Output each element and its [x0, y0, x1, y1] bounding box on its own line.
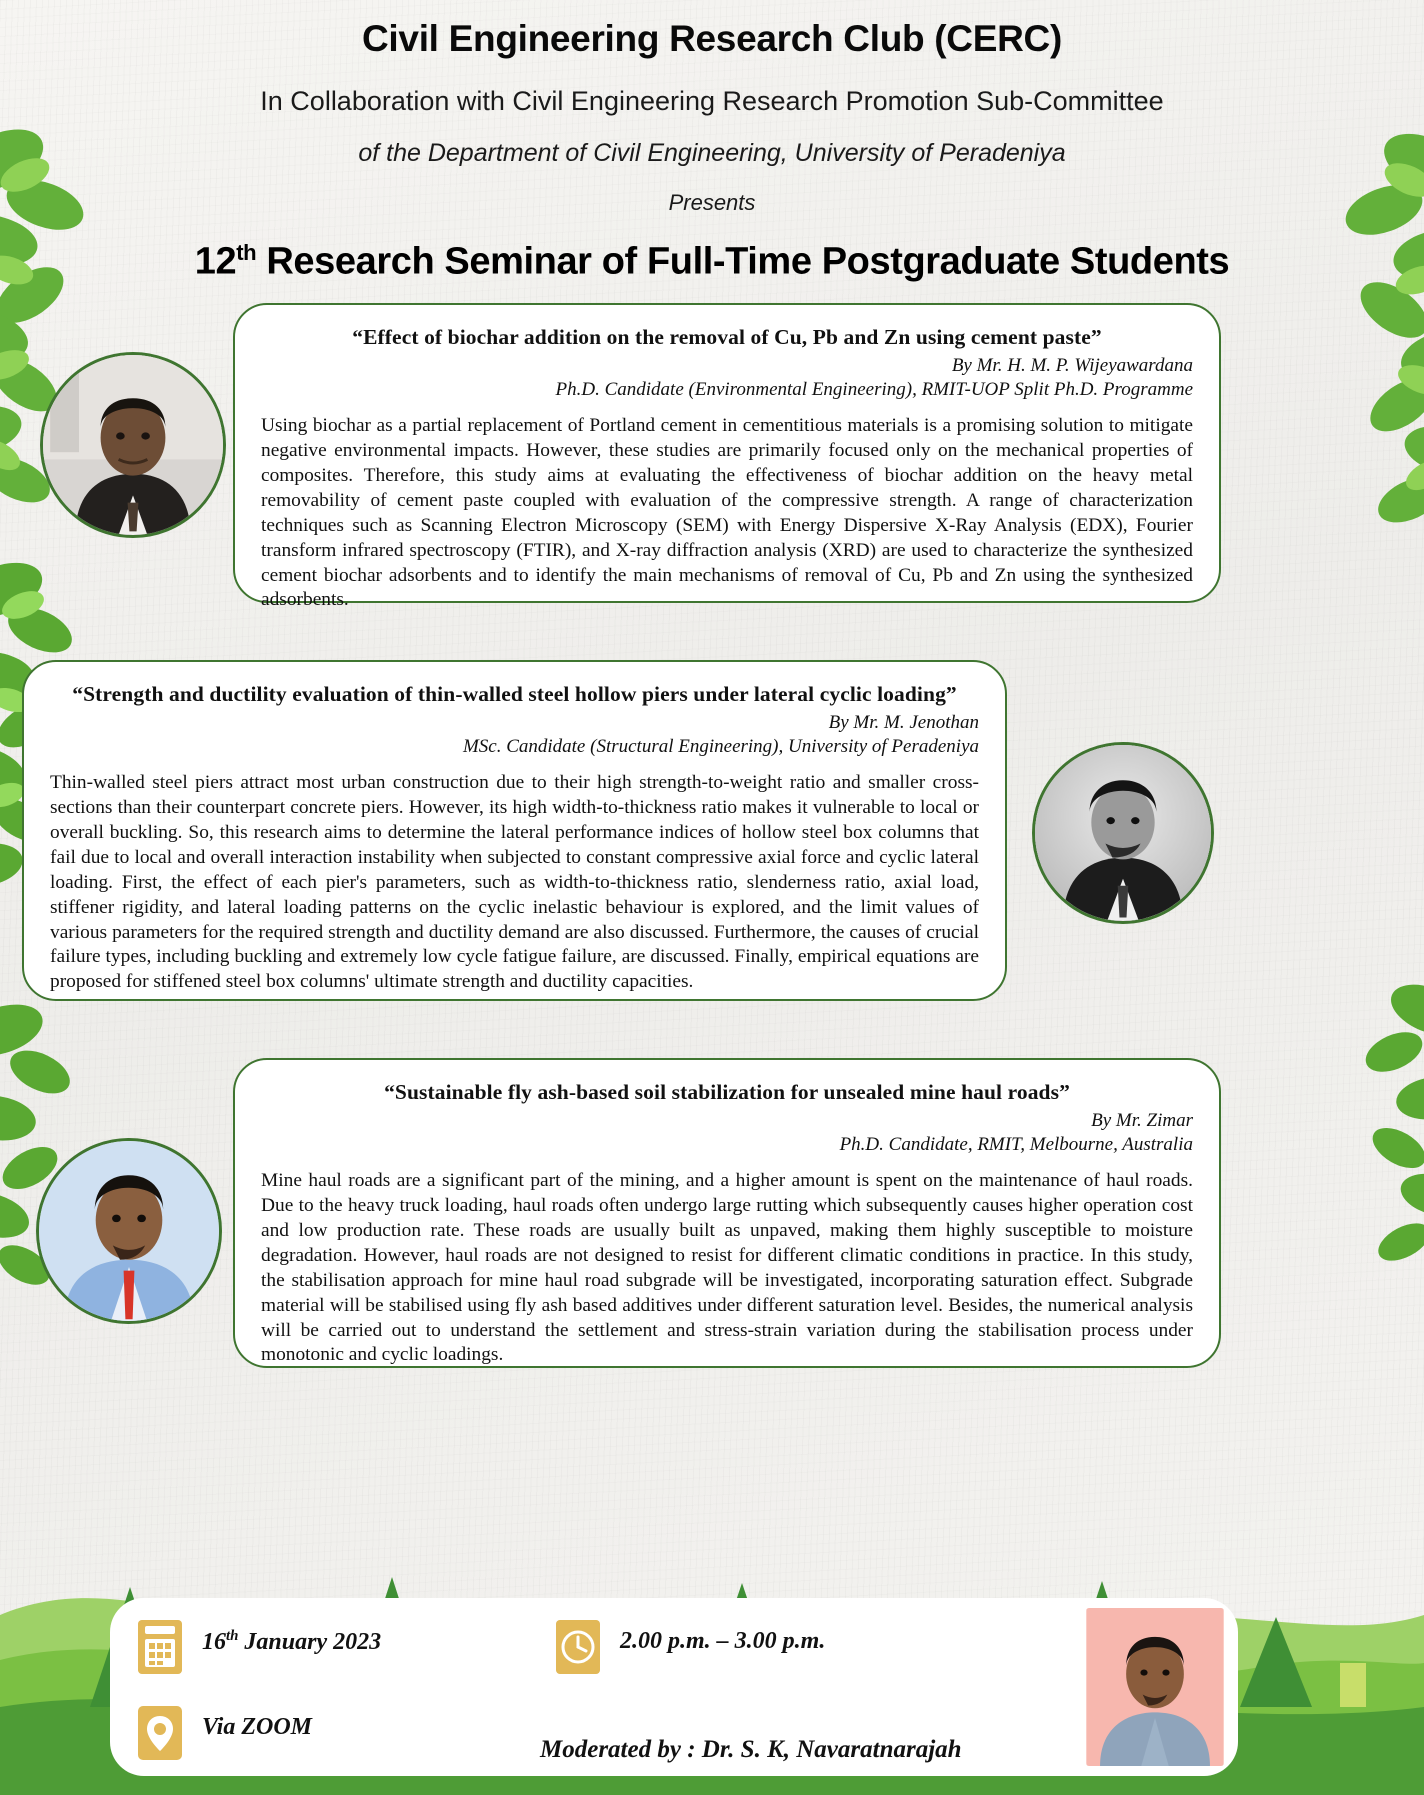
- event-venue: Via ZOOM: [202, 1714, 312, 1741]
- avatar: [43, 355, 223, 535]
- department-line: of the Department of Civil Engineering, …: [0, 139, 1424, 168]
- event-date-day: 16: [202, 1629, 226, 1655]
- talk-abstract: Using biochar as a partial replacement o…: [261, 414, 1193, 613]
- talk-presenter: By Mr. M. Jenothan: [50, 712, 979, 734]
- talk-abstract: Mine haul roads are a significant part o…: [261, 1169, 1193, 1368]
- poster-header: Civil Engineering Research Club (CERC) I…: [0, 0, 1424, 284]
- presenter-photo-3: [36, 1138, 222, 1324]
- talk-title: “Strength and ductility evaluation of th…: [50, 682, 979, 707]
- avatar: [1086, 1608, 1224, 1766]
- presents-label: Presents: [0, 190, 1424, 216]
- event-moderator: Moderated by : Dr. S. K, Navaratnarajah: [540, 1736, 962, 1764]
- event-date: 16th January 2023: [202, 1628, 381, 1656]
- page-title: 12th Research Seminar of Full-Time Postg…: [0, 240, 1424, 284]
- avatar: [1035, 745, 1211, 921]
- talk-affiliation: Ph.D. Candidate (Environmental Engineeri…: [261, 379, 1193, 401]
- talk-affiliation: Ph.D. Candidate, RMIT, Melbourne, Austra…: [261, 1134, 1193, 1156]
- avatar: [39, 1141, 219, 1321]
- talk-presenter: By Mr. H. M. P. Wijeyawardana: [261, 355, 1193, 377]
- seminar-title-rest: Research Seminar of Full-Time Postgradua…: [256, 241, 1229, 283]
- talk-card-3: “Sustainable fly ash-based soil stabiliz…: [233, 1058, 1221, 1368]
- presenter-photo-1: [40, 352, 226, 538]
- talk-title: “Effect of biochar addition on the remov…: [261, 325, 1193, 350]
- location-pin-icon: [138, 1706, 182, 1760]
- seminar-number: 12: [195, 241, 236, 283]
- collaboration-line: In Collaboration with Civil Engineering …: [0, 86, 1424, 117]
- talk-presenter: By Mr. Zimar: [261, 1110, 1193, 1132]
- event-details-bar: 16th January 2023 2.00 p.m. – 3.00 p.m. …: [110, 1598, 1238, 1776]
- clock-icon: [556, 1620, 600, 1674]
- moderator-photo: [1086, 1608, 1224, 1766]
- calendar-icon: [138, 1620, 182, 1674]
- organization-title: Civil Engineering Research Club (CERC): [0, 18, 1424, 60]
- talk-card-1: “Effect of biochar addition on the remov…: [233, 303, 1221, 603]
- talk-card-2: “Strength and ductility evaluation of th…: [22, 660, 1007, 1001]
- talk-affiliation: MSc. Candidate (Structural Engineering),…: [50, 736, 979, 758]
- event-date-ordinal: th: [226, 1628, 238, 1644]
- presenter-photo-2: [1032, 742, 1214, 924]
- event-time: 2.00 p.m. – 3.00 p.m.: [620, 1628, 825, 1655]
- talk-title: “Sustainable fly ash-based soil stabiliz…: [261, 1080, 1193, 1105]
- event-date-rest: January 2023: [238, 1629, 381, 1655]
- seminar-ordinal: th: [236, 240, 256, 265]
- talk-abstract: Thin-walled steel piers attract most urb…: [50, 771, 979, 995]
